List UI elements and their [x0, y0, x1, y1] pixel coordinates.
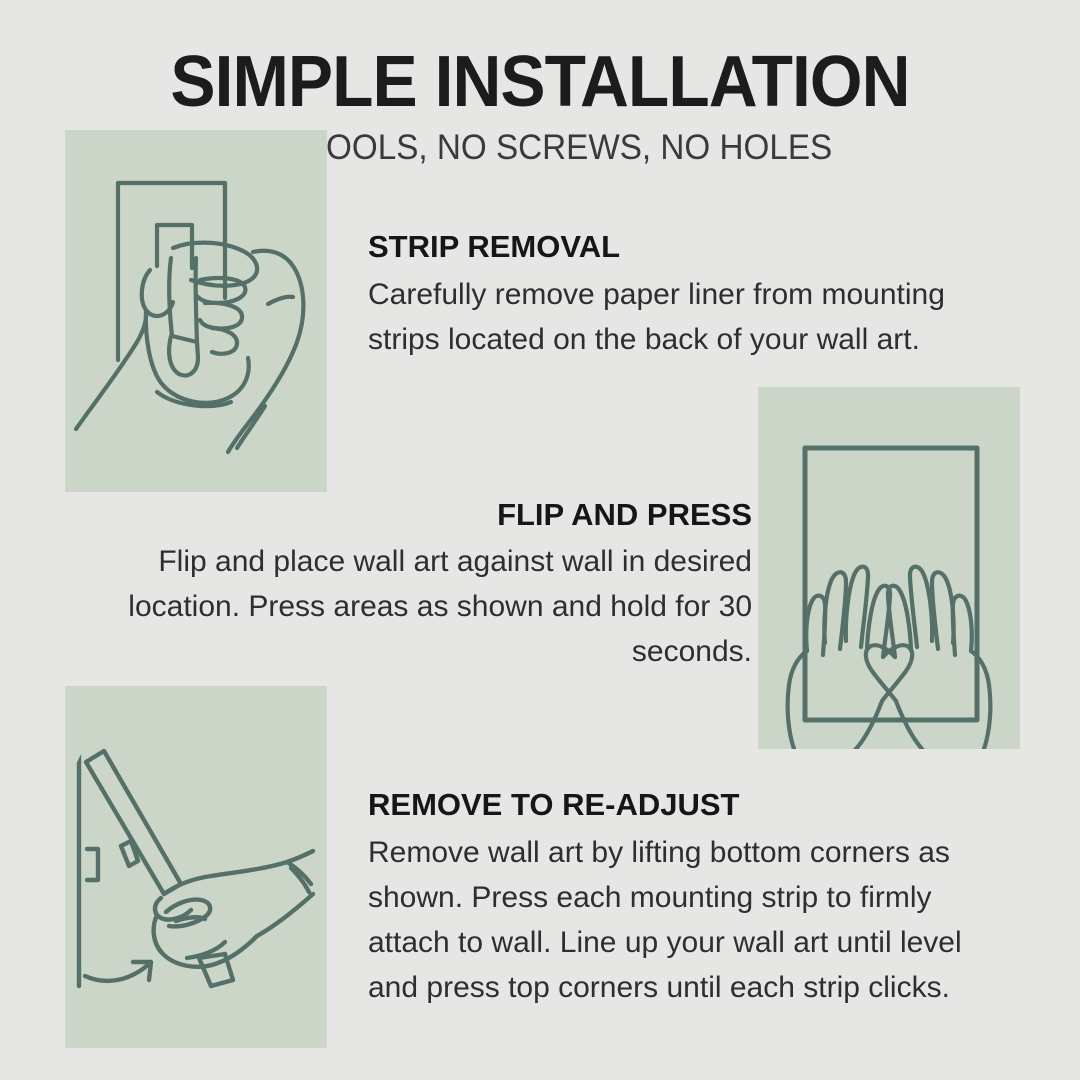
step-heading-strip-removal: STRIP REMOVAL [368, 228, 1008, 266]
infographic-canvas: SIMPLE INSTALLATION NO TOOLS, NO SCREWS,… [0, 0, 1080, 1080]
step-body-flip-and-press: Flip and place wall art against wall in … [112, 539, 752, 674]
step-text-remove-to-re-adjust: REMOVE TO RE-ADJUST Remove wall art by l… [368, 786, 1018, 1010]
step-text-flip-and-press: FLIP AND PRESS Flip and place wall art a… [112, 496, 752, 674]
illustration-panel-flip-and-press [758, 387, 1020, 749]
step-heading-flip-and-press: FLIP AND PRESS [112, 496, 752, 534]
illustration-panel-strip-removal [65, 130, 327, 492]
page-title: SIMPLE INSTALLATION [32, 44, 1047, 120]
illustration-panel-remove-to-re-adjust [65, 686, 327, 1048]
hand-peeling-liner-illustration [65, 130, 327, 492]
step-body-remove-to-re-adjust: Remove wall art by lifting bottom corner… [368, 830, 1018, 1010]
two-hands-pressing-frame-illustration [758, 387, 1020, 749]
hand-lifting-frame-illustration [65, 686, 327, 1048]
step-body-strip-removal: Carefully remove paper liner from mounti… [368, 272, 1008, 362]
step-heading-remove-to-re-adjust: REMOVE TO RE-ADJUST [368, 786, 1018, 824]
step-text-strip-removal: STRIP REMOVAL Carefully remove paper lin… [368, 228, 1008, 362]
